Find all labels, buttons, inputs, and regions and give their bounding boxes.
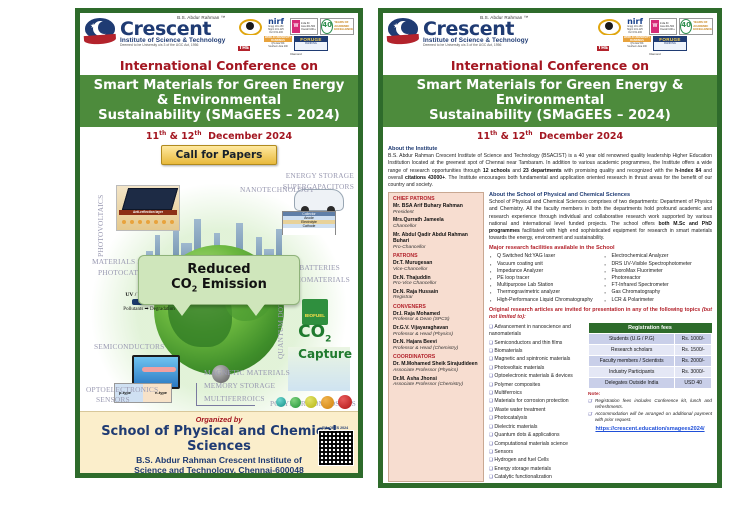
facility-item: LCR & Polarimeter [612,297,713,304]
battery-cell-diagram: Collector Anode Electrolyte Cathode [282,211,336,235]
capture-label: Capture [298,348,352,360]
crescent-logo: ★ B.S. Abdur Rahman ™ Crescent Institute… [84,16,225,47]
diamond-caption: Diamond [238,52,354,56]
topic-item: Photocatalysis [489,414,583,422]
facilities-column-2: Electrochemical Analyzer DRS UV-Visible … [604,253,713,303]
table-row: Industry ParticipantsRs. 3000/- [589,366,712,377]
date-day2-right: & 12 [501,131,526,142]
nirf-badge-icon-right: nirfEngg 101-150Mgmt 101-125Ovrl 151-200 [623,18,647,35]
member-designation: Vice-Chancellor [393,267,479,274]
topic-item: Waste water treatment [489,406,583,414]
fee-amount: Rs. 3000/- [675,366,712,377]
topics-and-fees: Advancement in nanoscience and nanomater… [489,323,712,482]
member-designation: Professor & Head (Chemistry) [393,346,479,353]
member-designation: Professor & Head (Physics) [393,332,479,339]
table-row: Students (U.G / P.G)Rs. 1000/- [589,333,712,344]
registration-fees-table: Registration fees Students (U.G / P.G)Rs… [588,323,712,389]
masthead-left: ★ B.S. Abdur Rahman ™ Crescent Institute… [80,13,358,57]
conference-date-left: 11th & 12th December 2024 [80,127,358,143]
conference-label-wrap-left: International Conference on [80,57,358,75]
keyword-semiconductors: SEMICONDUCTORS [94,342,164,351]
callout-arrow-right [247,304,265,316]
reduced-co2-callout: Reduced CO2 Emission [138,255,300,305]
body-columns: CHIEF PATRONS Mr. BSA Arif Buhary Rahman… [388,192,712,481]
forty-years-badge-icon: 40YEARS OFACADEMICEXCELLENCE [320,18,354,35]
member-name: Dr.N. Hajara Beevi [393,339,479,346]
title-line2-left: Sustainability (SMaGEES – 2024) [86,108,352,123]
keyword-batteries: BATTERIES [299,263,340,272]
as-text-2: facilitated with high end sophisticated … [489,228,712,241]
topic-item: Catalytic functionalization [489,473,583,481]
fees-table-title: Registration fees [589,323,712,334]
ai-bold-hindex: h-index 84 [675,168,701,174]
keyword-biomaterials: BIOMATERIALS [293,275,350,284]
date-sup1-right: th [490,130,497,137]
keyword-multiferroics: MULTIFERROICS [204,394,265,403]
crescent-wordmark-right: B.S. Abdur Rahman ™ Crescent Institute o… [423,16,528,47]
keyword-energy-storage: ENERGY STORAGE [286,171,354,180]
co2-text: CO [171,277,192,292]
date-sup2-right: th [525,130,532,137]
qr-code-icon[interactable] [318,430,354,466]
date-day2: & 12 [170,131,195,142]
ai-bold-citations: citations 43000+ [405,175,445,181]
brand-name: Crescent [120,21,225,38]
call-for-topics-text: Original research articles are invited f… [489,307,712,321]
facility-item: Photoreactor [612,275,713,282]
world-university-ranking-badge-icon-right: WIndia 60Asia 401-500Overall 1001+ [649,18,677,35]
topic-item: Biomaterials [489,347,583,355]
title-line1-right: Smart Materials for Green Energy & Envir… [389,78,711,108]
facility-item: Multipurpose Lab Station [497,282,598,289]
conference-date-right: 11th & 12th December 2024 [383,127,717,143]
member-name: Mrs.Qurrath Jameela [393,217,479,224]
world-university-ranking-badge-icon: WIndia 60Asia 401-500Overall 1001+ [290,18,318,35]
role-coordinators: COORDINATORS [393,354,479,360]
about-school-body: School of Physical and Chemical Sciences… [489,199,712,242]
member-designation: Professor & Dean (SPCS) [393,317,479,324]
facility-item: FT-Infrared Spectrometer [612,282,713,289]
topic-item: Semiconductors and thin films [489,339,583,347]
fee-amount: Rs. 2000/- [675,355,712,366]
role-conveners: CONVENERS [393,304,479,310]
table-row: Faculty members / ScientistsRs. 2000/- [589,355,712,366]
topic-item: Sensors [489,448,583,456]
biofuel-label: BIOFUEL [302,313,328,318]
masthead-right: ★ B.S. Abdur Rahman ™ Crescent Institute… [383,13,717,57]
note-heading: Note: [588,392,712,397]
member-name: Mr. Abdul Qadir Abdul Rahman Buhari [393,232,479,245]
forbes-badge-icon: FORUGERANKING [294,36,328,51]
electric-vehicle-thumbnail: Collector Anode Electrolyte Cathode [282,189,344,235]
about-institute-heading: About the Institute [388,146,712,152]
forbes-badge-icon-right: FORUGERANKING [653,36,687,51]
topic-item: Dielectric materials [489,423,583,431]
address-line2: Science and Technology, Chennai-600048 [86,465,352,473]
fee-amount: Rs. 1000/- [675,333,712,344]
fee-category: Delegates Outside India [589,377,675,388]
callout-line1: Reduced [143,262,295,277]
forty-years-badge-icon-right: 40YEARS OFACADEMICEXCELLENCE [679,18,713,35]
facility-item: High-Performance Liquid Chromatography [497,297,598,304]
naac-badge-icon: NAAC A+ [238,18,262,35]
note-item: Accommodation will be arranged on additi… [588,411,712,423]
topic-item: Computational materials science [489,440,583,448]
qs-ranking-badge-icon-right: WORLD UNIVERSITY RANKINGSQS Asia 501Sout… [623,36,651,51]
ai-bold-schools: 12 schools [483,168,510,174]
keyword-memory-storage: MEMORY STORAGE [204,381,275,390]
member-name: Mr. BSA Arif Buhary Rahman [393,203,479,210]
topic-item: Materials for corrosion protection [489,397,583,405]
conference-url-right[interactable]: https://crescent.education/smagees2024/ [595,426,704,432]
crescent-logo-right: ★ B.S. Abdur Rahman ™ Crescent Institute… [387,16,528,47]
date-sup2: th [194,130,201,137]
facility-item: Thermogravimetric analyzer [497,289,598,296]
facilities-lists: Q Switched Nd:YAG laser Vacuum coating u… [489,253,712,303]
deemed-university-line: Deemed to be University u/s 3 of the UGC… [120,44,225,47]
date-day1-right: 11 [477,131,490,142]
keyword-magnetic-materials: MAGNETIC MATERIALS [204,368,290,377]
co2-capture-text: CO [298,322,325,342]
cathode-label: Cathode [283,224,335,228]
topic-item: Multiferroics [489,389,583,397]
qr-caption: SMaGEES 2024 [318,426,352,430]
photovoltaic-thumbnail: Anti-reflection layer [116,185,180,231]
call-for-papers-button[interactable]: Call for Papers [161,145,278,165]
date-month-year: December 2024 [208,131,292,142]
member-designation: Chancellor [393,224,479,231]
accreditation-badges: NAAC A+ nirfEngg 101-150Mgmt 101-125Ovrl… [238,16,354,56]
organized-by-label: Organized by [86,415,352,424]
keyword-quantum-dots: QUANTUM DOTS [276,298,285,359]
topic-item: Energy storage materials [489,465,583,473]
title-line2-right: Sustainability (SMaGEES – 2024) [389,108,711,123]
fee-amount: Rs. 1500/- [675,344,712,355]
facility-item: PE loop tracer [497,275,598,282]
keyword-photovoltaics: PHOTOVOLTAICS [96,195,105,257]
the-rankings-badge-icon-right: THE [597,36,621,51]
quantum-dots-graphic [276,395,352,409]
left-poster: ★ B.S. Abdur Rahman ™ Crescent Institute… [75,8,363,478]
fee-category: Research scholars [589,344,675,355]
ai-text-2: and [510,168,523,174]
member-designation: Associate Professor (Chemistry) [393,382,479,389]
call-for-papers-wrap: Call for Papers [80,145,358,165]
co2-capture-co2: CO2 [298,325,352,347]
facility-item: Gas Chromatography [612,289,713,296]
qs-ranking-badge-icon: WORLD UNIVERSITY RANKINGSQS Asia 501Sout… [264,36,292,51]
member-designation: Registrar [393,295,479,302]
pollutants-degradation-label: Pollutants ➡ Degradation [120,306,178,312]
content-panel: About the School of Physical and Chemica… [489,192,712,481]
topic-item: Hydrogen and fuel Cells [489,456,583,464]
the-rankings-badge-icon: THE [238,36,262,51]
right-poster-body: About the Institute B.S. Abdur Rahman Cr… [383,143,717,483]
invite-text: Original research articles are invited f… [489,307,702,313]
conference-label-left: International Conference on [80,57,358,75]
co2-capture-graphic: CO2 Capture [298,325,352,359]
callout-arrow-left [173,304,191,316]
crescent-wordmark: B.S. Abdur Rahman ™ Crescent Institute o… [120,16,225,47]
fee-category: Industry Participants [589,366,675,377]
qr-code-block: SMaGEES 2024 [318,426,352,466]
about-institute-body: B.S. Abdur Rahman Crescent Institute of … [388,153,712,189]
naac-badge-icon-right: NAAC A+ [597,18,621,35]
topic-item: Optoelectronic materials & devices [489,372,583,380]
date-month-year-right: December 2024 [539,131,623,142]
topic-item: Advancement in nanoscience and nanomater… [489,323,583,339]
ai-text-3: with promising quality and recognized wi… [562,168,676,174]
conference-title-band-left: Smart Materials for Green Energy & Envir… [80,75,358,127]
brand-name-right: Crescent [423,21,528,38]
table-row: Research scholarsRs. 1500/- [589,344,712,355]
ai-bold-departments: 23 departments [523,168,562,174]
organizer-address: B.S. Abdur Rahman Crescent Institute of … [86,455,352,473]
topic-item: Magnetic and spintronic materials [489,355,583,363]
organizer-footer: Organized by School of Physical and Chem… [80,411,358,473]
topics-list: Advancement in nanoscience and nanomater… [489,323,583,482]
callout-line2: CO2 Emission [143,277,295,297]
address-line1: B.S. Abdur Rahman Crescent Institute of [86,455,352,465]
right-poster-inner: ★ B.S. Abdur Rahman ™ Crescent Institute… [383,13,717,483]
topic-item: Polymer composites [489,381,583,389]
member-designation: Pro-Chancellor [393,245,479,252]
member-designation: Associate Professor (Physics) [393,368,479,375]
keyword-optoelectronics: OPTOELECTRONICS [86,385,158,394]
facilities-heading: Major research facilities available in t… [489,245,712,251]
co2-capture-sub: 2 [325,335,331,345]
conference-url-wrap-right: https://crescent.education/smagees2024/ [588,426,712,432]
table-row: Delegates Outside IndiaUSD 40 [589,377,712,388]
crescent-moon-star-icon-right: ★ [387,18,421,46]
left-poster-inner: ★ B.S. Abdur Rahman ™ Crescent Institute… [80,13,358,473]
role-patrons: PATRONS [393,253,479,259]
member-name: Dr.G.V. Vijayaraghavan [393,325,479,332]
conference-title-band-right: Smart Materials for Green Energy & Envir… [383,75,717,127]
facility-item: Vacuum coating unit [497,261,598,268]
poster-artwork: Reduced CO2 Emission Anti-reflection lay… [80,149,358,411]
nirf-badge-icon: nirfEngg 101-150Mgmt 101-125Ovrl 151-200 [264,18,288,35]
topic-item: Photovoltaic materials [489,364,583,372]
facility-item: DRS UV-Visible Spectrophotometer [612,261,713,268]
conference-label-right: International Conference on [383,57,717,75]
facility-item: Electrochemical Analyzer [612,253,713,260]
member-designation: President [393,210,479,217]
role-chief-patrons: CHIEF PATRONS [393,196,479,202]
title-line1-left: Smart Materials for Green Energy & Envir… [86,78,352,108]
fee-category: Students (U.G / P.G) [589,333,675,344]
keyword-supercapacitors: SUPERCAPACITORS [283,182,354,191]
fee-amount: USD 40 [675,377,712,388]
diamond-caption-right: Diamond [597,52,713,56]
crescent-moon-star-icon: ★ [84,18,118,46]
right-poster: ★ B.S. Abdur Rahman ™ Crescent Institute… [378,8,722,488]
anti-reflection-label: Anti-reflection layer [119,210,177,215]
member-designation: Pro-Vice Chancellor [393,281,479,288]
date-day1: 11 [146,131,159,142]
fee-category: Faculty members / Scientists [589,355,675,366]
facility-item: FluoroMax Fluorimeter [612,268,713,275]
accreditation-badges-right: NAAC A+ nirfEngg 101-150Mgmt 101-125Ovrl… [597,16,713,56]
facilities-column-1: Q Switched Nd:YAG laser Vacuum coating u… [489,253,598,303]
about-school-heading: About the School of Physical and Chemica… [489,192,712,198]
facility-item: Q Switched Nd:YAG laser [497,253,598,260]
date-sup1: th [159,130,166,137]
keyword-sensors: SENSORS [96,395,130,404]
facility-item: Impedance Analyzer [497,268,598,275]
organizing-school: School of Physical and Chemical Sciences [86,424,352,454]
topic-item: Quantum dots & applications [489,431,583,439]
committee-panel: CHIEF PATRONS Mr. BSA Arif Buhary Rahman… [388,192,484,481]
emission-text: Emission [197,277,267,292]
note-item: Registration fees includes Conference ki… [588,398,712,410]
deemed-university-line-right: Deemed to be University u/s 3 of the UGC… [423,44,528,47]
member-name: Dr.T. Murugesan [393,260,479,267]
screenshot-canvas: ★ B.S. Abdur Rahman ™ Crescent Institute… [0,0,730,518]
registration-fees-block: Registration fees Students (U.G / P.G)Rs… [588,323,712,482]
